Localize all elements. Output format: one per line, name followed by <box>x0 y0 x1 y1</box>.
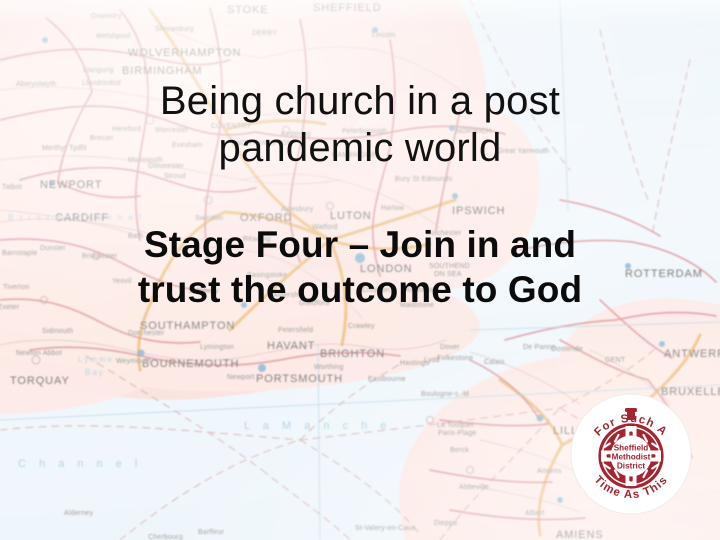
svg-text:District: District <box>617 462 645 471</box>
presentation-slide: SHEFFIELDSTOKEShrewsburyDERBYLincolnWOLV… <box>0 0 720 540</box>
svg-text:Methodist: Methodist <box>612 453 651 462</box>
logo-center-text: Sheffield Methodist District <box>612 444 651 471</box>
organisation-logo: Sheffield Methodist District For Such A … <box>570 393 692 515</box>
svg-text:Sheffield: Sheffield <box>614 444 649 453</box>
